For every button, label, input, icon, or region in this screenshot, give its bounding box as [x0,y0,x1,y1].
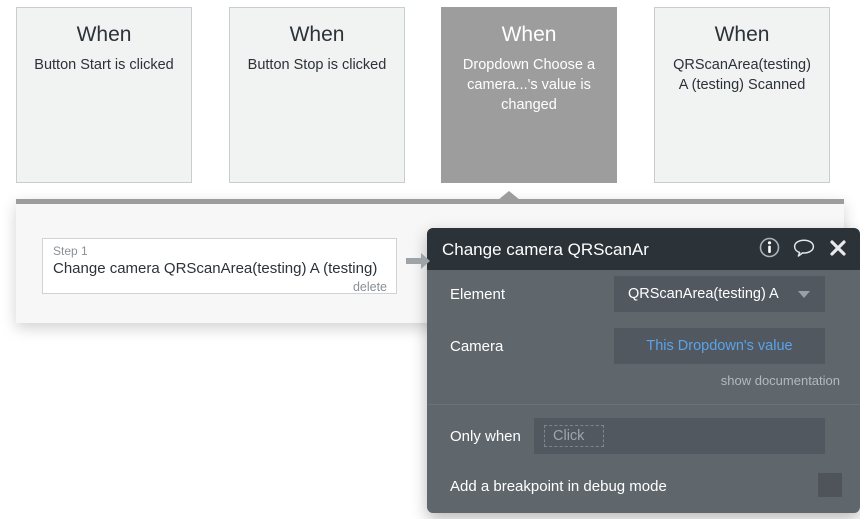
step-number-label: Step 1 [53,244,387,259]
event-card-button-stop[interactable]: When Button Stop is clicked [229,7,405,183]
field-row-only-when: Only when Click [427,412,860,464]
camera-value-field[interactable]: This Dropdown's value [614,328,825,364]
section-divider [427,404,860,405]
step-next-arrow-icon [404,249,432,278]
event-card-detail: Button Stop is clicked [242,55,392,75]
section-divider-wrap [427,398,860,412]
breakpoint-row: Add a breakpoint in debug mode [427,464,860,510]
selected-card-pointer [498,191,520,200]
event-card-dropdown-value-changed[interactable]: When Dropdown Choose a camera...'s value… [441,7,617,183]
element-dropdown-value: QRScanArea(testing) A [628,285,779,304]
app-root: When Button Start is clicked When Button… [0,0,860,519]
element-dropdown[interactable]: QRScanArea(testing) A [614,276,825,312]
event-card-detail: Dropdown Choose a camera...'s value is c… [454,55,604,115]
property-editor-header-icons [759,237,848,263]
event-card-qrscanarea-scanned[interactable]: When QRScanArea(testing) A (testing) Sca… [654,7,830,183]
breakpoint-label: Add a breakpoint in debug mode [450,476,667,497]
property-editor-title: Change camera QRScanAr [442,238,667,261]
camera-dynamic-value: This Dropdown's value [614,337,825,356]
property-editor-body: Element QRScanArea(testing) A Camera Thi… [427,270,860,510]
workflow-top-bar [16,199,844,204]
field-label-camera: Camera [450,336,503,357]
event-cards-row: When Button Start is clicked When Button… [0,0,860,190]
event-card-title: When [667,22,817,48]
only-when-field[interactable]: Click [534,418,825,454]
field-label-only-when: Only when [450,426,521,447]
only-when-placeholder: Click [544,425,604,447]
workflow-step-1[interactable]: Step 1 Change camera QRScanArea(testing)… [42,238,397,294]
event-card-detail: Button Start is clicked [29,55,179,75]
show-documentation-row: show documentation [427,372,860,398]
step-delete-link[interactable]: delete [53,279,387,295]
show-documentation-link[interactable]: show documentation [721,372,840,390]
step-title: Change camera QRScanArea(testing) A (tes… [53,259,387,279]
event-card-title: When [454,22,604,48]
event-card-detail: QRScanArea(testing) A (testing) Scanned [667,55,817,95]
field-row-element: Element QRScanArea(testing) A [427,270,860,322]
event-card-title: When [242,22,392,48]
comment-icon[interactable] [793,238,815,263]
breakpoint-checkbox[interactable] [818,473,842,497]
property-editor-panel: Change camera QRScanAr [427,228,860,513]
event-card-button-start[interactable]: When Button Start is clicked [16,7,192,183]
field-label-element: Element [450,284,505,305]
property-editor-header: Change camera QRScanAr [427,228,860,270]
chevron-down-icon [798,291,810,298]
field-row-camera: Camera This Dropdown's value [427,322,860,372]
info-icon[interactable] [759,237,780,263]
event-card-title: When [29,22,179,48]
close-icon[interactable] [828,238,848,263]
